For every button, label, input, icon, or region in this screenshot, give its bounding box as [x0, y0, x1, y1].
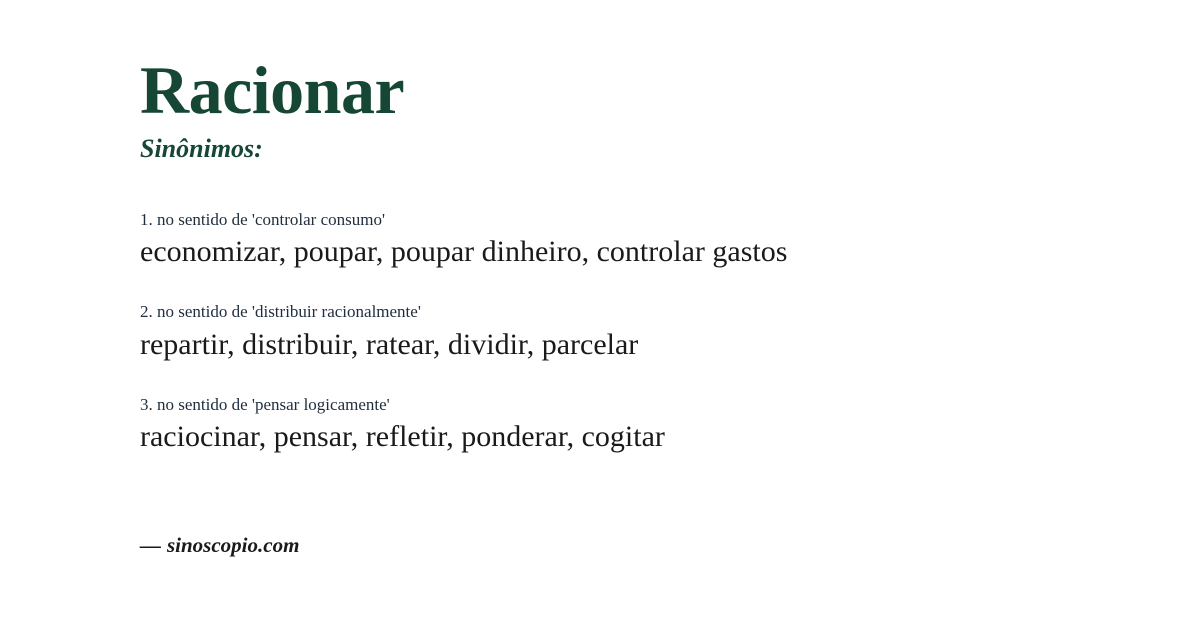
em-dash-icon: —	[140, 533, 167, 557]
sense-label: 1. no sentido de 'controlar consumo'	[140, 209, 1140, 230]
subtitle: Sinônimos:	[140, 124, 1140, 162]
sense-synonyms: repartir, distribuir, ratear, dividir, p…	[140, 323, 1140, 364]
attribution: —sinoscopio.com	[140, 533, 299, 558]
sense-synonyms: raciocinar, pensar, refletir, ponderar, …	[140, 415, 1140, 456]
list-item: 1. no sentido de 'controlar consumo' eco…	[140, 209, 1140, 271]
synonym-card: Racionar Sinônimos: 1. no sentido de 'co…	[0, 0, 1200, 628]
list-item: 3. no sentido de 'pensar logicamente' ra…	[140, 394, 1140, 456]
sense-label: 2. no sentido de 'distribuir racionalmen…	[140, 301, 1140, 322]
attribution-source: sinoscopio.com	[167, 533, 299, 557]
sense-synonyms: economizar, poupar, poupar dinheiro, con…	[140, 230, 1140, 271]
list-item: 2. no sentido de 'distribuir racionalmen…	[140, 301, 1140, 363]
page-title: Racionar	[140, 0, 1140, 124]
sense-list: 1. no sentido de 'controlar consumo' eco…	[140, 162, 1140, 456]
sense-label: 3. no sentido de 'pensar logicamente'	[140, 394, 1140, 415]
